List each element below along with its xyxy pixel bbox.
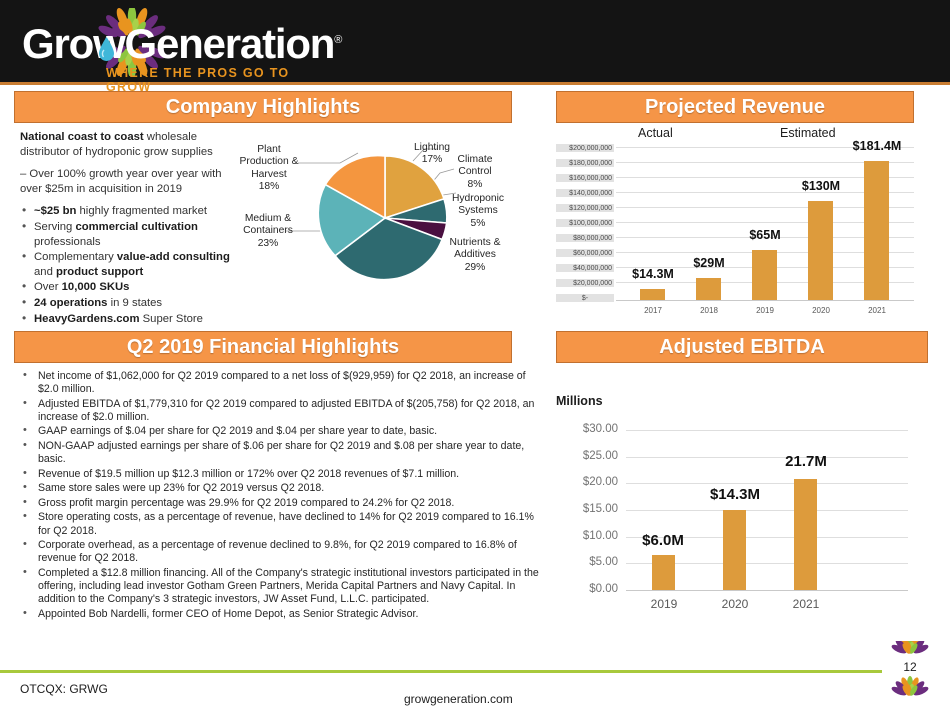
product-mix-pie-chart: Plant Production & Harvest 18% Medium & …: [240, 133, 515, 328]
ebitda-ytick: $5.00: [556, 556, 618, 568]
logo-tagline: WHERE THE PROS GO TO GROW: [106, 66, 304, 94]
bullet-text: Super Store: [140, 313, 203, 325]
list-item: HeavyGardens.com Super Store: [20, 312, 238, 327]
list-item: Revenue of $19.5 million up $12.3 millio…: [18, 468, 546, 481]
bar-label-2019: $6.0M: [628, 532, 698, 549]
bar-label-2017: $14.3M: [622, 267, 684, 281]
bar-2017: [640, 289, 665, 300]
panel-title-company-highlights: Company Highlights: [14, 91, 512, 123]
bar-2021: [794, 479, 817, 590]
bar-2019: [752, 250, 777, 300]
bar-2020: [808, 201, 833, 300]
slide-header: GrowGeneration® WHERE THE PROS GO TO GRO…: [0, 0, 950, 82]
gridline: [626, 430, 908, 431]
panel-title-company-highlights-label: Company Highlights: [166, 96, 360, 119]
bar-label-2018: $29M: [678, 256, 740, 270]
adjusted-ebitda-chart: Millions $30.00 $25.00 $20.00 $15.00 $10…: [556, 372, 928, 632]
company-growth-paragraph: – Over 100% growth year over year with o…: [20, 167, 238, 196]
list-item: Complementary value-add consulting and p…: [20, 250, 238, 279]
pie-value-text: 5%: [471, 218, 486, 229]
list-item: Appointed Bob Nardelli, former CEO of Ho…: [18, 608, 546, 621]
bar-label-2019: $65M: [734, 228, 796, 242]
bar-2018: [696, 278, 721, 300]
bar-label-2021: $181.4M: [842, 139, 912, 153]
panel-title-adjusted-ebitda: Adjusted EBITDA: [556, 331, 928, 363]
bullet-text: in 9 states: [107, 297, 162, 309]
slide: GrowGeneration® WHERE THE PROS GO TO GRO…: [0, 0, 950, 713]
ebitda-ytick: $30.00: [556, 423, 618, 435]
logo-wordmark: GrowGeneration®: [22, 20, 341, 68]
bullet-bold-2: product support: [56, 266, 143, 278]
ebitda-ytick: $10.00: [556, 530, 618, 542]
revenue-ytick: $120,000,000: [556, 204, 614, 212]
bar-2021: [864, 161, 889, 300]
footer-website: growgeneration.com: [404, 692, 513, 706]
bullet-bold: ~$25 bn: [34, 205, 76, 217]
xtick-2018: 2018: [688, 306, 730, 315]
list-item: Gross profit margin percentage was 29.9%…: [18, 497, 546, 510]
bullet-text: professionals: [34, 236, 101, 248]
revenue-ytick: $40,000,000: [556, 264, 614, 272]
pie-label-nutrients-additives: Nutrients & Additives 29%: [436, 237, 514, 274]
list-item: Adjusted EBITDA of $1,779,310 for Q2 201…: [18, 398, 546, 424]
xtick-2020: 2020: [800, 306, 842, 315]
projected-revenue-chart: Actual Estimated $200,000,000 $180,000,0…: [556, 126, 928, 326]
footer-rule: [0, 670, 882, 673]
xtick-2017: 2017: [632, 306, 674, 315]
bullet-bold: HeavyGardens.com: [34, 313, 140, 325]
logo-word-generation: Generation: [125, 20, 335, 67]
ebitda-ytick: $20.00: [556, 476, 618, 488]
page-number: 12: [876, 660, 944, 674]
bar-label-2020: $14.3M: [697, 486, 773, 503]
list-item: 24 operations in 9 states: [20, 296, 238, 311]
ebitda-axis-title: Millions: [556, 394, 603, 408]
xtick-2021: 2021: [856, 306, 898, 315]
growgeneration-logo: GrowGeneration® WHERE THE PROS GO TO GRO…: [14, 6, 304, 78]
list-item: Corporate overhead, as a percentage of r…: [18, 539, 546, 565]
revenue-ytick: $60,000,000: [556, 249, 614, 257]
list-item: GAAP earnings of $.04 per share for Q2 2…: [18, 425, 546, 438]
bullet-pre: Complementary: [34, 251, 117, 263]
bullet-mid: and: [34, 266, 56, 278]
pie-value-text: 29%: [465, 262, 486, 273]
company-intro-bold: National coast to coast: [20, 131, 144, 143]
bullet-pre: Serving: [34, 221, 75, 233]
list-item: Completed a $12.8 million financing. All…: [18, 567, 546, 606]
revenue-ytick: $140,000,000: [556, 189, 614, 197]
revenue-ytick: $160,000,000: [556, 174, 614, 182]
pie-label-text: Plant Production & Harvest: [240, 144, 299, 180]
pie-label-text: Hydroponic Systems: [452, 193, 504, 216]
bar-2020: [723, 510, 746, 590]
bullet-bold: 24 operations: [34, 297, 107, 309]
revenue-group-label-estimated: Estimated: [780, 126, 836, 140]
pie-label-plant-production: Plant Production & Harvest 18%: [235, 144, 303, 194]
bullet-bold: value-add consulting: [117, 251, 230, 263]
registered-trademark-icon: ®: [334, 34, 341, 46]
list-item: Net income of $1,062,000 for Q2 2019 com…: [18, 370, 546, 396]
page-badge-flower-icon: [876, 641, 944, 711]
list-item: NON-GAAP adjusted earnings per share of …: [18, 440, 546, 466]
ebitda-ytick: $25.00: [556, 450, 618, 462]
company-highlights-bullets: ~$25 bn highly fragmented market Serving…: [20, 204, 238, 326]
pie-label-text: Nutrients & Additives: [450, 237, 501, 260]
panel-title-financial-highlights-label: Q2 2019 Financial Highlights: [127, 336, 399, 359]
pie-label-hydroponic-systems: Hydroponic Systems 5%: [442, 193, 514, 230]
xtick-2020: 2020: [709, 597, 761, 611]
list-item: Store operating costs, as a percentage o…: [18, 511, 546, 537]
pie-label-medium-containers: Medium & Containers 23%: [232, 213, 304, 250]
gridline: [626, 510, 908, 511]
company-intro-paragraph: National coast to coast wholesale distri…: [20, 130, 238, 159]
ebitda-ytick: $15.00: [556, 503, 618, 515]
xtick-2019: 2019: [638, 597, 690, 611]
ebitda-ytick: $0.00: [556, 583, 618, 595]
bullet-pre: Over: [34, 281, 62, 293]
list-item: ~$25 bn highly fragmented market: [20, 204, 238, 219]
gridline: [626, 483, 908, 484]
bullet-bold: commercial cultivation: [75, 221, 197, 233]
revenue-ytick: $100,000,000: [556, 219, 614, 227]
pie-label-climate-control: Climate Control 8%: [444, 154, 506, 191]
revenue-ytick: $20,000,000: [556, 279, 614, 287]
axis-line: [616, 300, 914, 301]
revenue-ytick: $200,000,000: [556, 144, 614, 152]
water-drop-icon: [98, 36, 115, 62]
xtick-2021: 2021: [780, 597, 832, 611]
panel-title-projected-revenue-label: Projected Revenue: [645, 96, 825, 119]
list-item: Same store sales were up 23% for Q2 2019…: [18, 482, 546, 495]
panel-title-adjusted-ebitda-label: Adjusted EBITDA: [659, 336, 825, 359]
pie-label-text: Climate Control: [458, 154, 493, 177]
bar-label-2020: $130M: [790, 179, 852, 193]
financial-highlights-bullets: Net income of $1,062,000 for Q2 2019 com…: [18, 370, 546, 622]
pie-label-text: Lighting: [414, 142, 450, 153]
list-item: Over 10,000 SKUs: [20, 280, 238, 295]
list-item: Serving commercial cultivation professio…: [20, 220, 238, 249]
gridline: [626, 457, 908, 458]
revenue-ytick: $80,000,000: [556, 234, 614, 242]
pie-value-text: 23%: [258, 238, 279, 249]
axis-line: [626, 590, 908, 591]
bullet-bold: 10,000 SKUs: [62, 281, 130, 293]
panel-title-financial-highlights: Q2 2019 Financial Highlights: [14, 331, 512, 363]
revenue-ytick: $180,000,000: [556, 159, 614, 167]
company-growth-line: – Over 100% growth year over year with o…: [20, 168, 222, 195]
revenue-group-label-actual: Actual: [638, 126, 673, 140]
footer-ticker: OTCQX: GRWG: [20, 682, 108, 696]
pie-value-text: 17%: [422, 154, 443, 165]
xtick-2019: 2019: [744, 306, 786, 315]
panel-title-projected-revenue: Projected Revenue: [556, 91, 914, 123]
revenue-ytick-zero: $-: [556, 294, 614, 302]
bar-2019: [652, 555, 675, 590]
pie-value-text: 8%: [468, 179, 483, 190]
pie-label-text: Medium & Containers: [243, 213, 293, 236]
bar-label-2021: 21.7M: [769, 453, 843, 470]
company-highlights-text: National coast to coast wholesale distri…: [20, 130, 238, 327]
pie-value-text: 18%: [259, 181, 280, 192]
bullet-text: highly fragmented market: [76, 205, 207, 217]
